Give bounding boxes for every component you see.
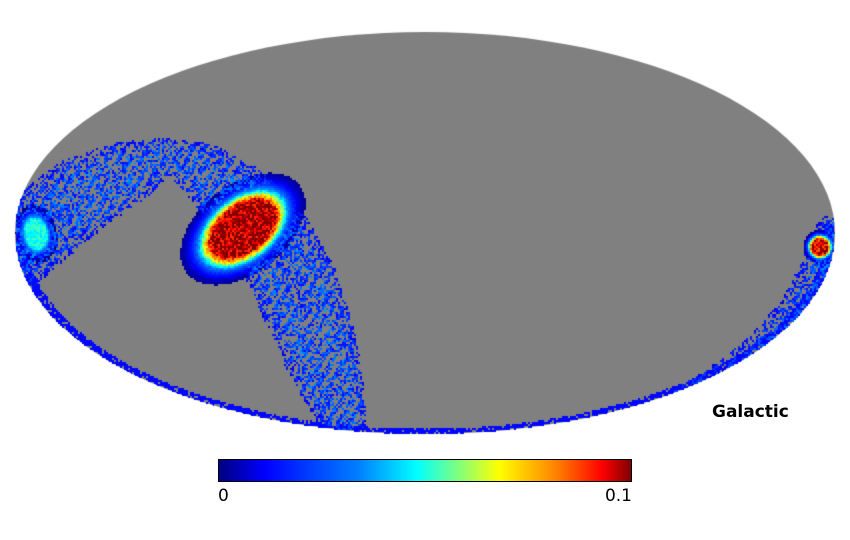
colorbar-min-tick-label: 0 [218,486,229,506]
coordinate-system-label: Galactic [712,402,789,422]
colorbar-group: 0 0.1 [218,459,632,482]
sky-map-figure: I Stokes Galactic 0 0.1 [0,0,850,540]
colorbar-max-tick-label: 0.1 [605,486,632,506]
colorbar [218,459,632,482]
